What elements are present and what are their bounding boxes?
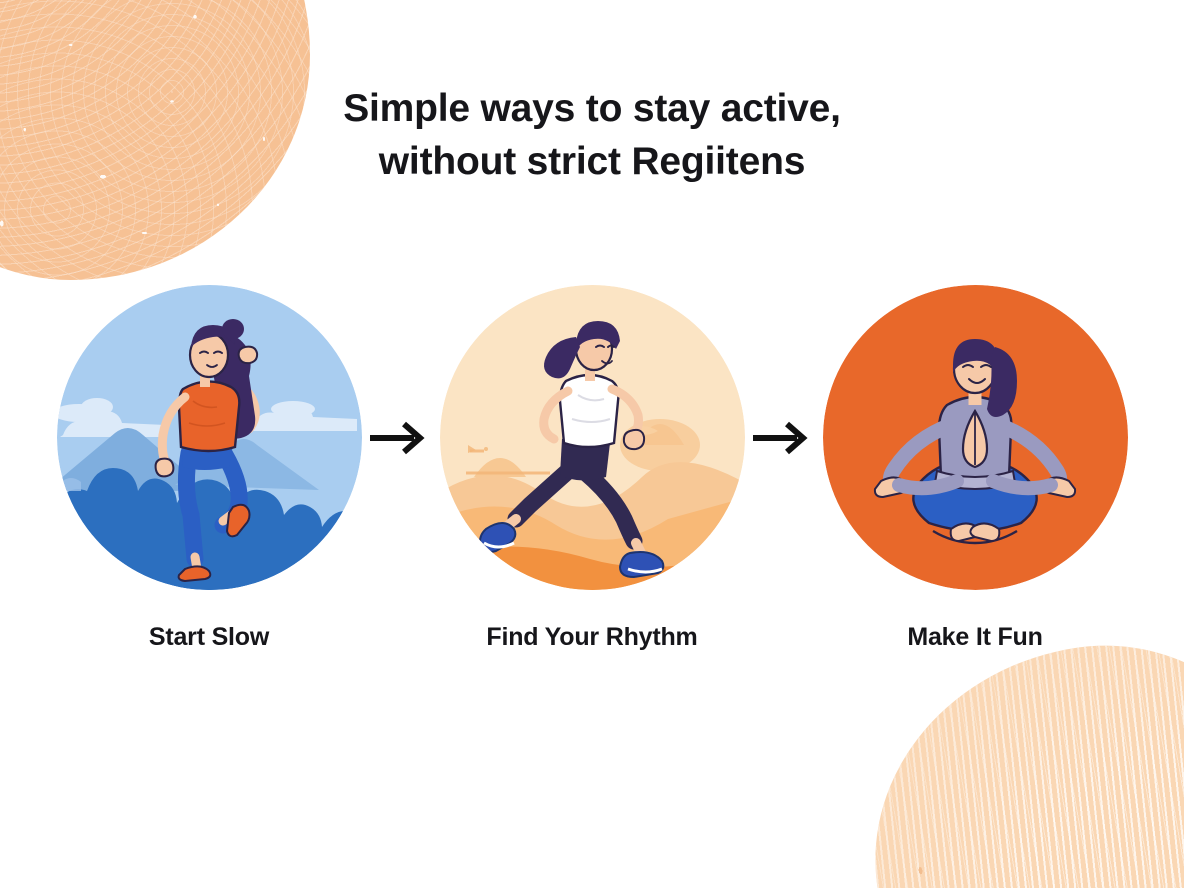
woman-running-illustration xyxy=(440,285,745,590)
woman-walking-illustration xyxy=(57,285,362,590)
arrow-1-icon xyxy=(362,285,440,590)
woman-meditating-illustration xyxy=(823,285,1128,590)
step-label: Start Slow xyxy=(149,623,269,652)
step-label: Make It Fun xyxy=(907,623,1042,652)
bottom-right-texture-blob xyxy=(848,620,1184,888)
arrow-2-icon xyxy=(745,285,823,590)
page-title: Simple ways to stay active, without stri… xyxy=(0,82,1184,188)
step-start-slow[interactable]: Start Slow xyxy=(57,285,362,652)
steps-row: Start Slow xyxy=(0,285,1184,652)
step-find-your-rhythm[interactable]: Find Your Rhythm xyxy=(440,285,745,652)
infographic-canvas: Simple ways to stay active, without stri… xyxy=(0,0,1184,888)
blob-edge-speckles xyxy=(256,0,316,20)
step-label: Find Your Rhythm xyxy=(486,623,697,652)
blob-streak-texture xyxy=(848,620,1184,888)
blob-edge-speckles xyxy=(856,852,966,888)
step-make-it-fun[interactable]: Make It Fun xyxy=(823,285,1128,652)
